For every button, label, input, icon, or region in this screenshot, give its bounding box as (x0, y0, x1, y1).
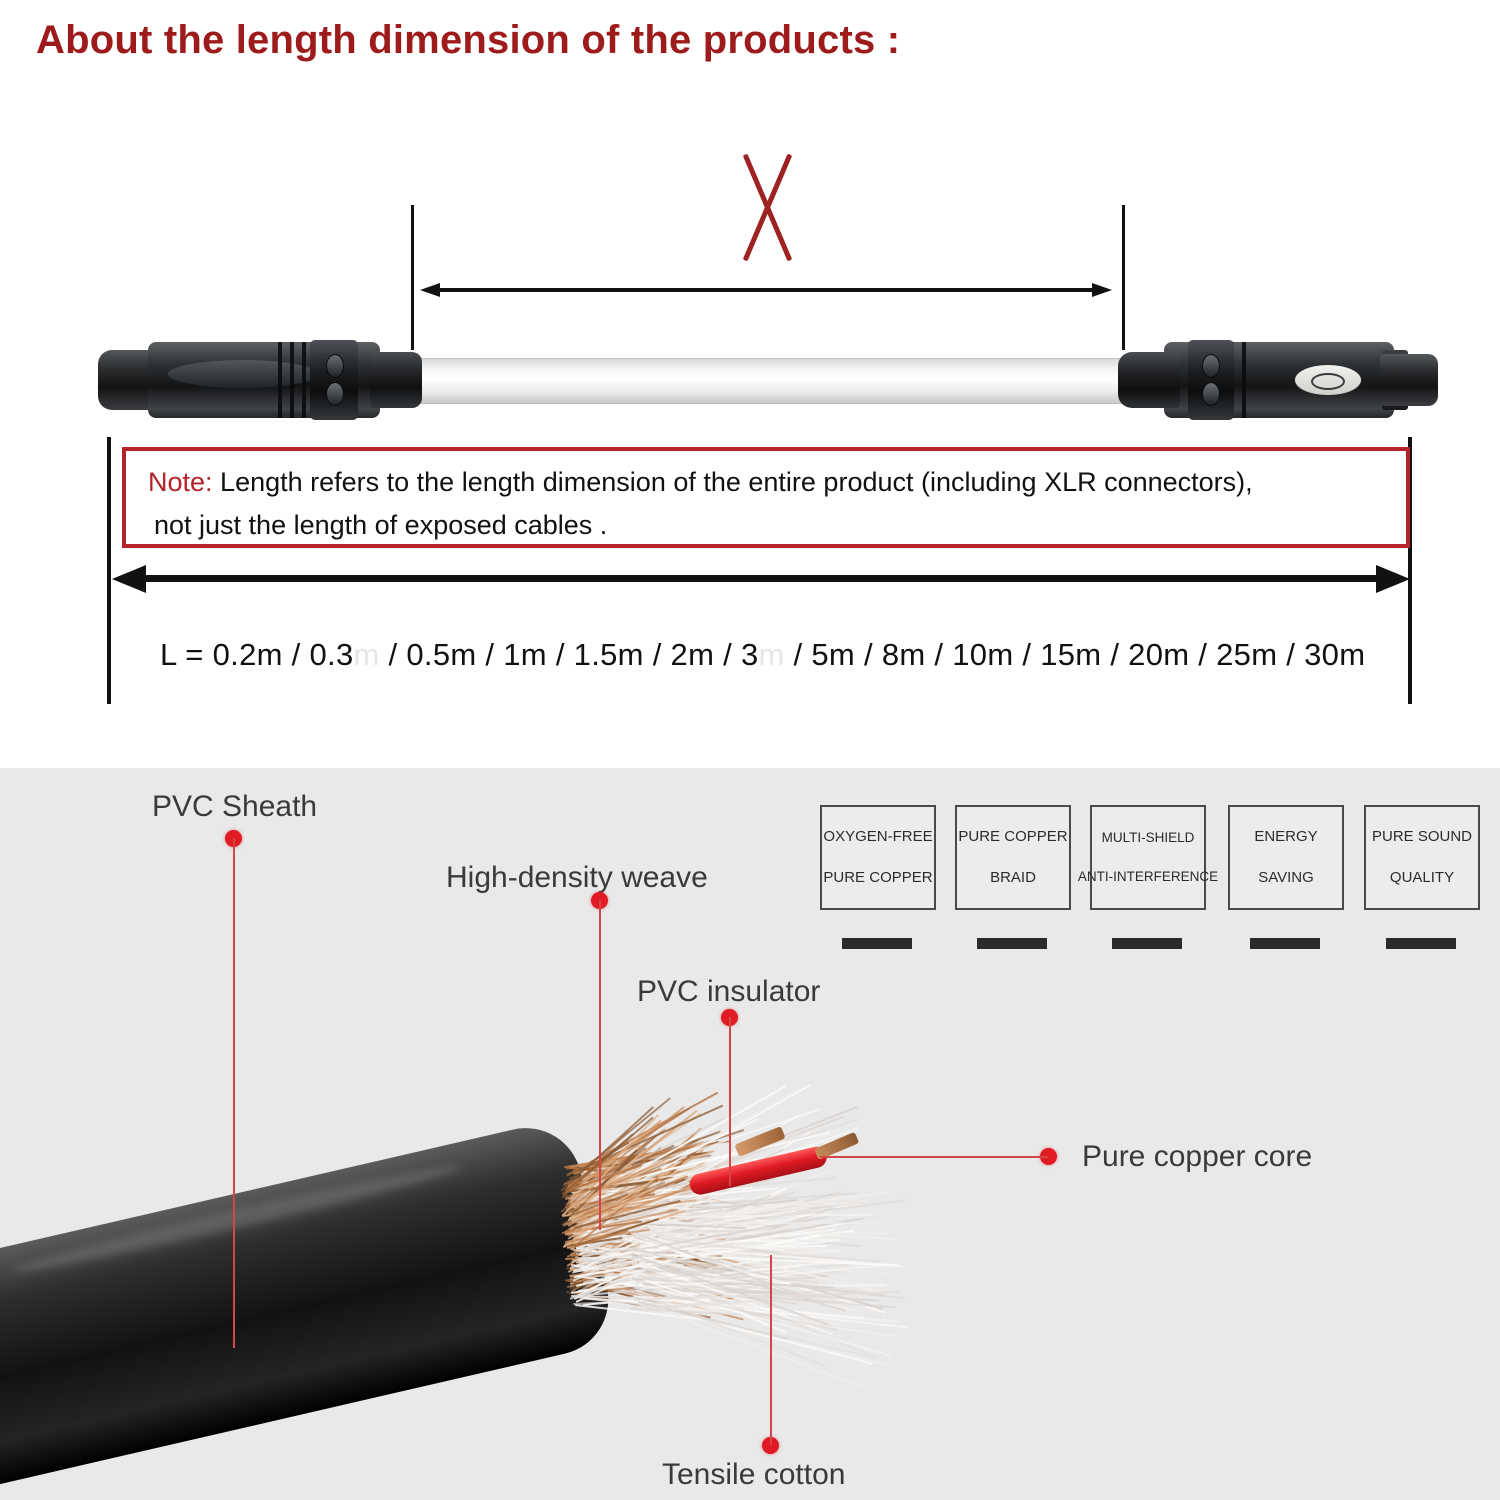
note-text-1: Length refers to the length dimension of… (213, 467, 1253, 497)
female-latch-button (1294, 364, 1362, 396)
length-option: 20m (1128, 637, 1189, 672)
arrow-shaft (438, 288, 1094, 292)
feature-badge-2: MULTI-SHIELDANTI-INTERFERENCE (1090, 805, 1206, 910)
female-tip (1380, 354, 1438, 406)
arrow-head-right (1092, 283, 1112, 297)
badge-line: OXYGEN-FREE (823, 829, 932, 846)
length-option: 30m (1304, 637, 1365, 672)
length-option: 0.5m (406, 637, 476, 672)
callout-label-3: Pure copper core (1082, 1140, 1312, 1174)
product-infographic: About the length dimension of the produc… (0, 0, 1500, 1500)
length-dimension-panel: About the length dimension of the produc… (0, 0, 1500, 768)
available-lengths-list: L = 0.2m / 0.3m / 0.5m / 1m / 1.5m / 2m … (160, 637, 1365, 673)
callout-label-4: Tensile cotton (662, 1458, 845, 1492)
badge-line: QUALITY (1390, 870, 1454, 887)
note-label: Note: (148, 467, 213, 497)
red-x-incorrect-icon (715, 150, 815, 265)
badge-underline-1 (977, 938, 1047, 949)
callout-label-0: PVC Sheath (152, 790, 317, 824)
note-box: Note: Length refers to the length dimens… (122, 447, 1410, 548)
page-title: About the length dimension of the produc… (36, 18, 900, 63)
extension-line-right (1122, 205, 1125, 350)
feature-badge-4: PURE SOUNDQUALITY (1364, 805, 1480, 910)
length-option: 5m (811, 637, 855, 672)
full-arrow-head-right (1376, 565, 1410, 593)
callout-leader-2 (729, 1017, 731, 1186)
xlr-cable-assembly (98, 330, 1438, 430)
length-option: 2m (671, 637, 715, 672)
badge-line: BRAID (990, 870, 1036, 887)
length-option: 1m (503, 637, 547, 672)
callout-leader-3 (820, 1156, 1048, 1158)
length-option: 0.3m (310, 637, 380, 672)
feature-badge-3: ENERGYSAVING (1228, 805, 1344, 910)
male-highlight (168, 360, 318, 388)
badge-line: SAVING (1258, 870, 1314, 887)
cable-only-length-arrow (420, 283, 1112, 297)
badge-underline-3 (1250, 938, 1320, 949)
badge-underline-2 (1112, 938, 1182, 949)
badge-line: ANTI-INTERFERENCE (1078, 870, 1218, 885)
length-option: 25m (1216, 637, 1277, 672)
full-extension-line-left (107, 437, 111, 704)
extension-line-left (411, 205, 414, 350)
callout-label-1: High-density weave (446, 861, 708, 895)
length-option: 3m (741, 637, 785, 672)
callout-leader-4 (770, 1255, 772, 1445)
callout-leader-1 (599, 900, 601, 1230)
full-arrow-shaft (142, 575, 1380, 582)
note-line-1: Note: Length refers to the length dimens… (148, 467, 1253, 498)
badge-underline-4 (1386, 938, 1456, 949)
badge-line: MULTI-SHIELD (1102, 831, 1195, 846)
male-neck (370, 352, 422, 408)
length-option: 0.2m (213, 637, 283, 672)
badge-line: PURE COPPER (958, 829, 1067, 846)
xlr-female-connector (1118, 336, 1438, 424)
length-option: 15m (1040, 637, 1101, 672)
feature-badge-0: OXYGEN-FREEPURE COPPER (820, 805, 936, 910)
xlr-male-connector (98, 336, 418, 424)
note-line-2: not just the length of exposed cables . (154, 510, 607, 541)
full-arrow-head-left (112, 565, 146, 593)
total-product-length-arrow (112, 565, 1410, 593)
feature-badge-1: PURE COPPERBRAID (955, 805, 1071, 910)
female-mouth (1118, 352, 1180, 408)
badge-line: ENERGY (1254, 829, 1317, 846)
badge-line: PURE COPPER (823, 870, 932, 887)
callout-label-2: PVC insulator (637, 975, 820, 1009)
arrow-head-left (420, 283, 440, 297)
badge-line: PURE SOUND (1372, 829, 1472, 846)
badge-underline-0 (842, 938, 912, 949)
male-latch-band (310, 340, 358, 420)
length-option: 8m (882, 637, 926, 672)
female-latch-band (1188, 340, 1234, 420)
callout-leader-0 (233, 838, 235, 1348)
length-option: 10m (952, 637, 1013, 672)
length-option: 1.5m (574, 637, 644, 672)
